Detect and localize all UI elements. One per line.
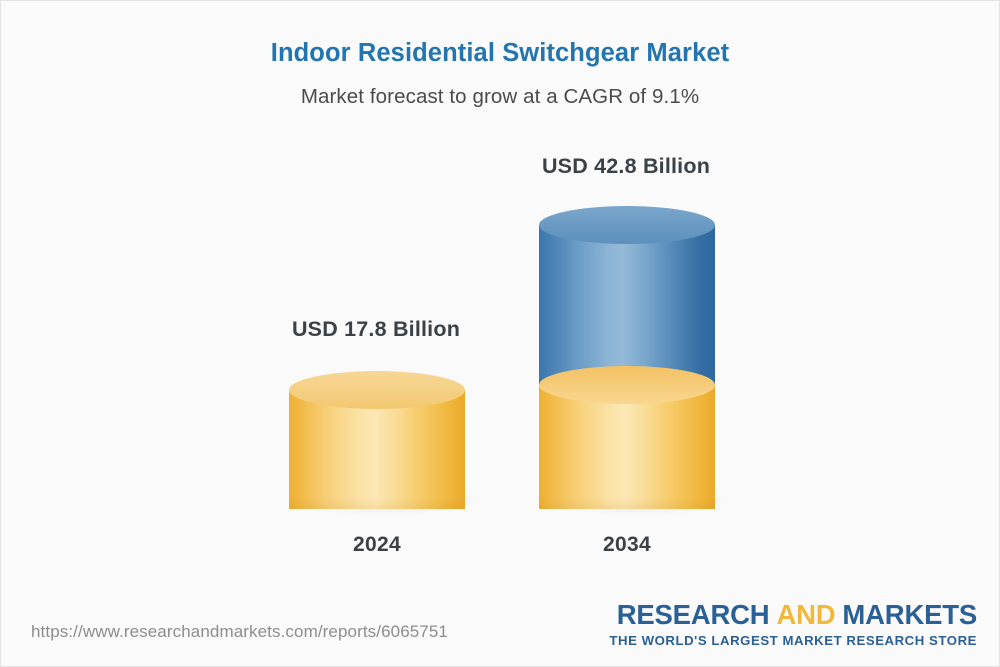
brand-word-markets: MARKETS: [842, 599, 977, 630]
value-label-2024: USD 17.8 Billion: [253, 319, 499, 341]
bar-cylinder-2034[interactable]: [539, 206, 715, 509]
bar-cylinder-2024[interactable]: [289, 371, 465, 509]
bar-group-2034: USD 42.8 Billion: [503, 156, 749, 178]
bar-group-2024: USD 17.8 Billion: [253, 319, 499, 341]
report-url[interactable]: https://www.researchandmarkets.com/repor…: [31, 622, 448, 642]
bar-foot-shade-2024: [289, 497, 465, 509]
chart-card: Indoor Residential Switchgear Market Mar…: [0, 0, 1000, 667]
brand-word-and: AND: [776, 599, 835, 630]
bar-body-upper-2034: [539, 225, 715, 385]
chart-plot-area: USD 17.8 Billion USD 42.8 Billion: [1, 1, 1000, 667]
brand-logo[interactable]: RESEARCHANDMARKETS THE WORLD'S LARGEST M…: [609, 601, 977, 648]
bar-segment-divider-2034: [539, 366, 715, 404]
bar-foot-shade-2034: [539, 497, 715, 509]
axis-label-2034: 2034: [504, 533, 750, 557]
bar-top-cap-2024: [289, 371, 465, 409]
bar-top-cap-2034: [539, 206, 715, 244]
axis-label-2024: 2024: [254, 533, 500, 557]
brand-logo-wordmark: RESEARCHANDMARKETS: [609, 601, 977, 630]
brand-word-research: RESEARCH: [617, 599, 770, 630]
value-label-2034: USD 42.8 Billion: [503, 156, 749, 178]
brand-tagline: THE WORLD'S LARGEST MARKET RESEARCH STOR…: [609, 630, 977, 648]
